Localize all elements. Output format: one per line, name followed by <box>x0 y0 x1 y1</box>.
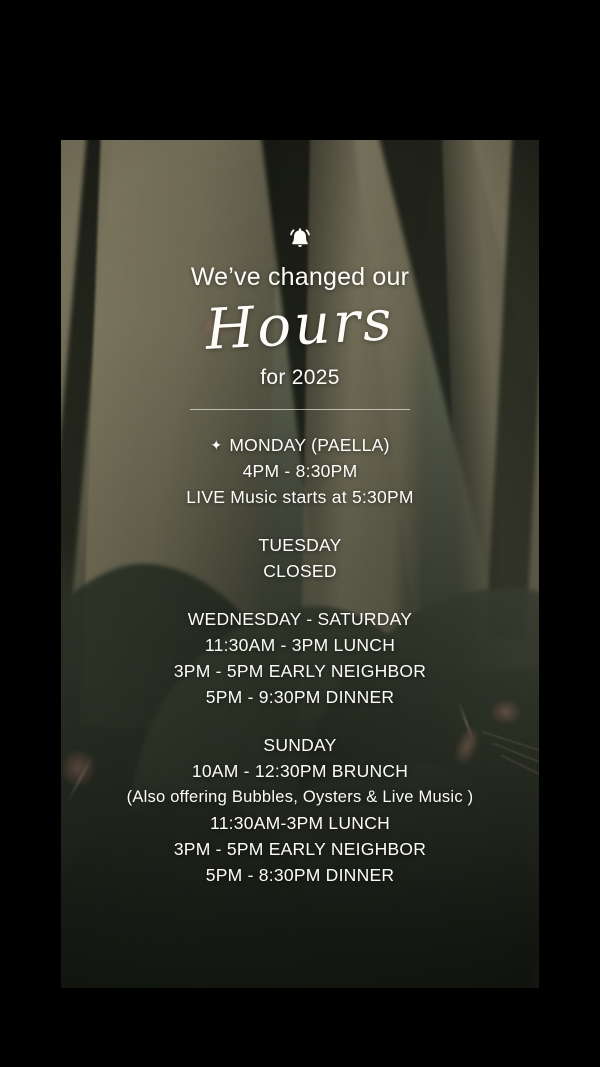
text-overlay: We’ve changed our Hours for 2025 ✦MONDAY… <box>61 140 539 988</box>
agave-photo: We’ve changed our Hours for 2025 ✦MONDAY… <box>61 140 539 988</box>
schedule-line: LIVE Music starts at 5:30PM <box>61 484 539 510</box>
schedule-line: 11:30AM - 3PM LUNCH <box>61 632 539 658</box>
bell-icon <box>61 224 539 254</box>
schedule-line: 10AM - 12:30PM BRUNCH <box>61 758 539 784</box>
subheading-year: for 2025 <box>61 366 539 390</box>
schedule-line: (Also offering Bubbles, Oysters & Live M… <box>61 784 539 810</box>
black-canvas: We’ve changed our Hours for 2025 ✦MONDAY… <box>0 0 600 1067</box>
divider <box>190 409 410 410</box>
schedule-line: TUESDAY <box>61 532 539 558</box>
schedule-line: CLOSED <box>61 558 539 584</box>
schedule-line: SUNDAY <box>61 732 539 758</box>
schedule-line: 4PM - 8:30PM <box>61 458 539 484</box>
schedule-line: 11:30AM-3PM LUNCH <box>61 810 539 836</box>
schedule-block-wednesday-saturday: WEDNESDAY - SATURDAY 11:30AM - 3PM LUNCH… <box>61 606 539 710</box>
schedule-block-sunday: SUNDAY 10AM - 12:30PM BRUNCH (Also offer… <box>61 732 539 888</box>
schedule-line: 3PM - 5PM EARLY NEIGHBOR <box>61 658 539 684</box>
schedule-block-tuesday: TUESDAY CLOSED <box>61 532 539 584</box>
schedule-line: WEDNESDAY - SATURDAY <box>61 606 539 632</box>
schedule-list: ✦MONDAY (PAELLA) 4PM - 8:30PM LIVE Music… <box>61 432 539 888</box>
schedule-line: 5PM - 9:30PM DINNER <box>61 684 539 710</box>
sparkle-icon: ✦ <box>210 432 222 458</box>
script-heading-hours: Hours <box>61 286 539 367</box>
schedule-line: 3PM - 5PM EARLY NEIGHBOR <box>61 836 539 862</box>
schedule-line-text: MONDAY (PAELLA) <box>229 435 389 455</box>
schedule-line: ✦MONDAY (PAELLA) <box>61 432 539 458</box>
page-title: We’ve changed our <box>61 264 539 292</box>
schedule-line: 5PM - 8:30PM DINNER <box>61 862 539 888</box>
schedule-block-monday: ✦MONDAY (PAELLA) 4PM - 8:30PM LIVE Music… <box>61 432 539 510</box>
